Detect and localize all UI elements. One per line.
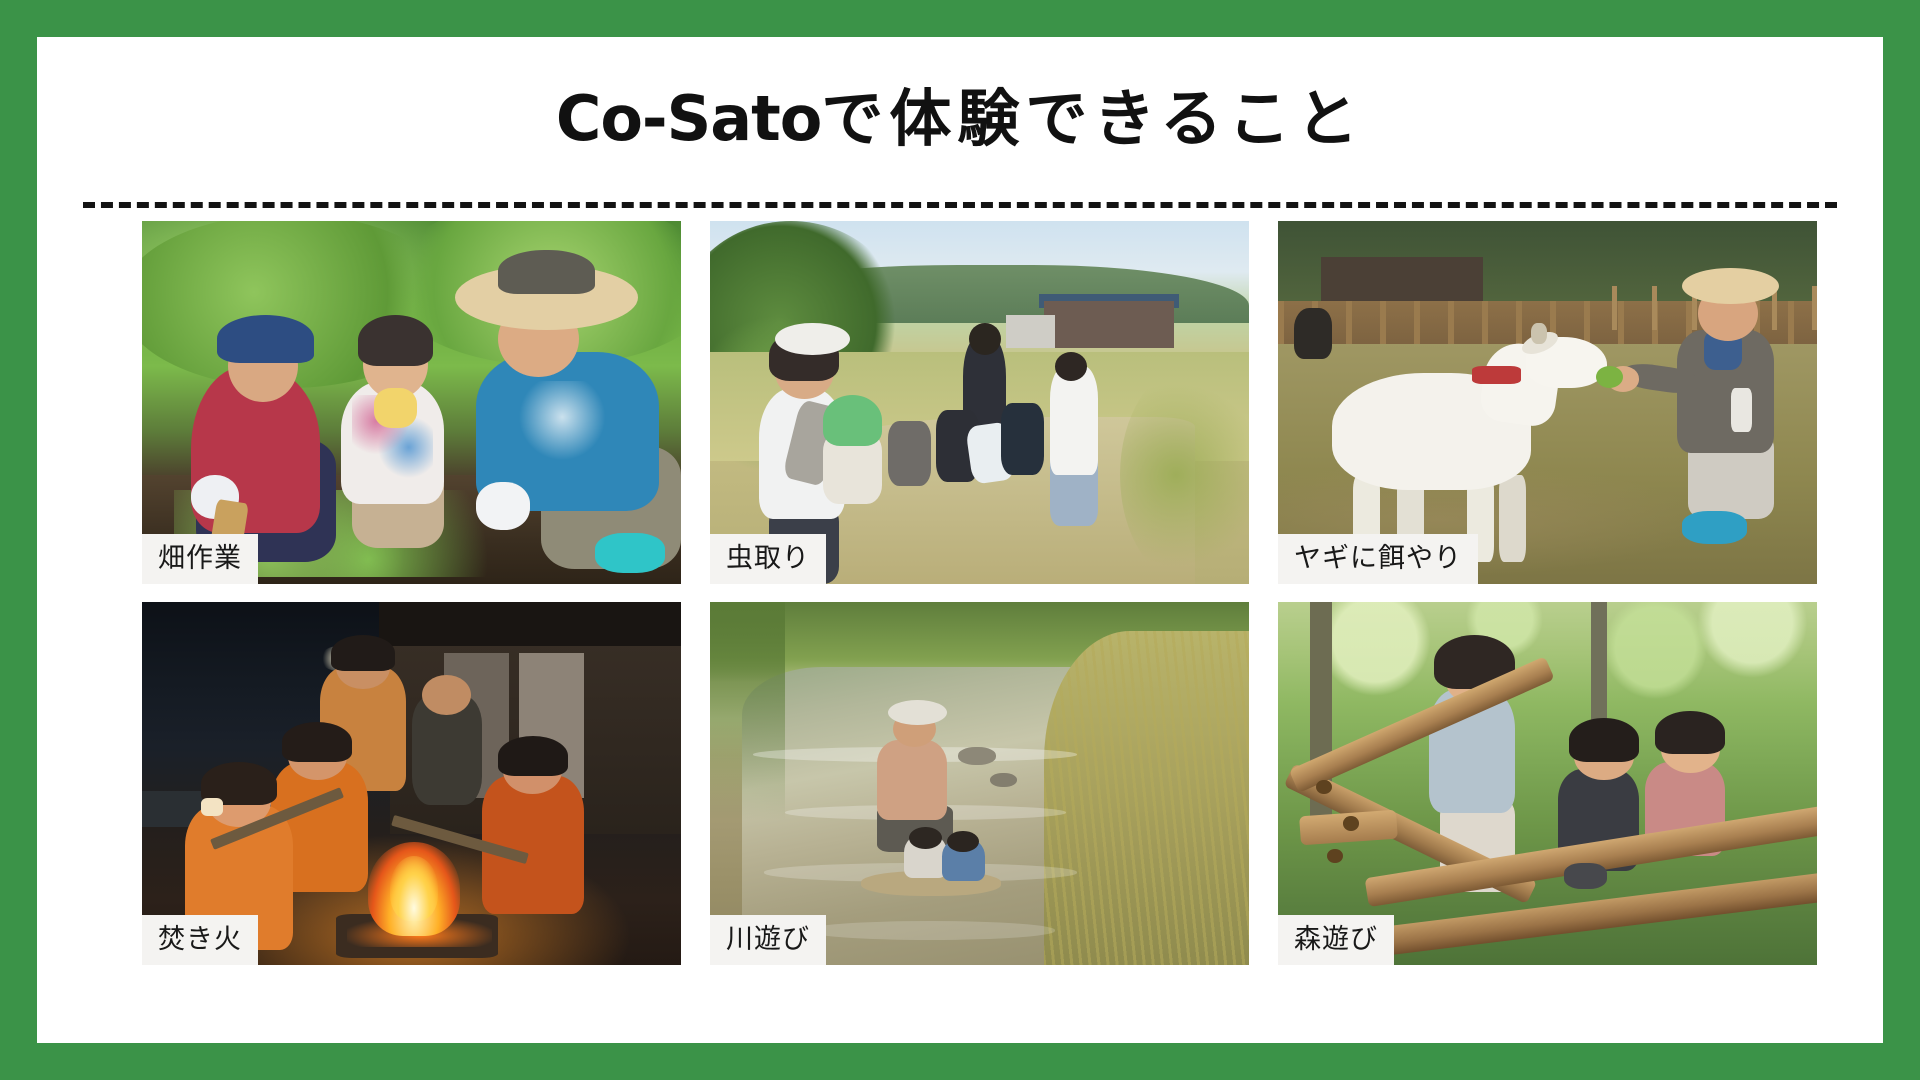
gallery-item-caption: 川遊び	[710, 915, 826, 965]
gallery-item-caption: 畑作業	[142, 534, 258, 584]
page-title-latin: Co-Sato	[556, 82, 822, 155]
photo-river-play	[710, 602, 1249, 965]
slide-content-area: Co-Satoで体験できること	[37, 37, 1883, 1043]
gallery-item[interactable]: 虫取り	[710, 221, 1249, 584]
gallery-item-caption: 焚き火	[142, 915, 258, 965]
slide-green-frame: Co-Satoで体験できること	[0, 0, 1920, 1080]
photo-forest-play	[1278, 602, 1817, 965]
photo-bonfire	[142, 602, 681, 965]
photo-field-work	[142, 221, 681, 584]
gallery-item-caption: 虫取り	[710, 534, 826, 584]
photo-insect-catching	[710, 221, 1249, 584]
gallery-item[interactable]: 森遊び	[1278, 602, 1817, 965]
page-title: Co-Satoで体験できること	[37, 85, 1883, 153]
page-title-japanese: で体験できること	[821, 82, 1364, 155]
photo-gallery-grid: 畑作業	[142, 221, 1817, 965]
gallery-item[interactable]: ヤギに餌やり	[1278, 221, 1817, 584]
photo-goat-feeding	[1278, 221, 1817, 584]
gallery-item-caption: ヤギに餌やり	[1278, 534, 1478, 584]
gallery-item[interactable]: 焚き火	[142, 602, 681, 965]
gallery-item[interactable]: 川遊び	[710, 602, 1249, 965]
gallery-item[interactable]: 畑作業	[142, 221, 681, 584]
gallery-item-caption: 森遊び	[1278, 915, 1394, 965]
title-divider	[83, 202, 1837, 208]
